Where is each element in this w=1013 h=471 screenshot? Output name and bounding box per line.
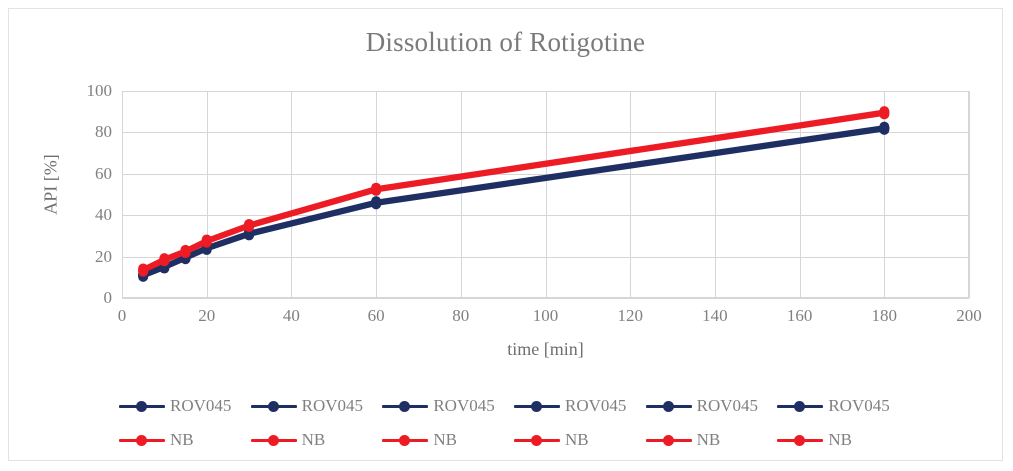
data-point-marker	[244, 221, 254, 231]
series-line	[143, 127, 884, 274]
data-point-marker	[181, 247, 191, 257]
y-axis-tick-label: 20	[52, 247, 112, 267]
plot-area	[122, 91, 969, 298]
legend-item-label: NB	[170, 430, 194, 450]
x-axis-tick-label: 180	[854, 306, 914, 326]
legend-item[interactable]: ROV045	[251, 391, 383, 421]
legend-item-label: ROV045	[433, 396, 494, 416]
data-point-marker	[879, 124, 889, 134]
legend-item[interactable]: NB	[514, 425, 646, 455]
data-point-marker	[202, 236, 212, 246]
legend-marker-icon	[382, 433, 428, 447]
legend-item-label: NB	[565, 430, 589, 450]
series-line	[143, 114, 884, 271]
series-line	[143, 113, 884, 270]
series-line	[143, 128, 884, 275]
legend-marker-icon	[251, 399, 297, 413]
x-axis-tick-label: 0	[92, 306, 152, 326]
legend-item-label: NB	[433, 430, 457, 450]
x-axis-tick-label: 20	[177, 306, 237, 326]
series-line	[143, 114, 884, 271]
legend-marker-icon	[646, 433, 692, 447]
legend-item[interactable]: NB	[382, 425, 514, 455]
data-point-marker	[138, 265, 148, 275]
chart-container: Dissolution of Rotigotine API [%] 020406…	[8, 8, 1003, 461]
legend-item[interactable]: ROV045	[514, 391, 646, 421]
legend-item[interactable]: NB	[646, 425, 778, 455]
legend-marker-icon	[251, 433, 297, 447]
legend-dot-icon	[531, 401, 542, 412]
legend-dot-icon	[531, 435, 542, 446]
legend-dot-icon	[663, 435, 674, 446]
legend-item[interactable]: ROV045	[777, 391, 909, 421]
data-point-marker	[879, 108, 889, 118]
legend-item-label: NB	[828, 430, 852, 450]
legend-dot-icon	[399, 401, 410, 412]
data-point-marker	[371, 185, 381, 195]
x-axis-tick-label: 100	[516, 306, 576, 326]
legend-item-label: ROV045	[302, 396, 363, 416]
legend-dot-icon	[663, 401, 674, 412]
series-line	[143, 130, 884, 277]
legend-marker-icon	[119, 433, 165, 447]
series-line	[143, 129, 884, 276]
x-axis-tick-label: 200	[939, 306, 999, 326]
y-axis-tick-labels: 020406080100	[49, 91, 112, 298]
legend-item-label: ROV045	[828, 396, 889, 416]
legend-marker-icon	[777, 399, 823, 413]
y-axis-tick-label: 100	[52, 81, 112, 101]
legend-item[interactable]: NB	[251, 425, 383, 455]
y-axis-tick-label: 60	[52, 164, 112, 184]
legend-dot-icon	[399, 435, 410, 446]
legend-marker-icon	[777, 433, 823, 447]
series-line	[143, 127, 884, 274]
series-line	[143, 111, 884, 268]
data-point-marker	[159, 255, 169, 265]
legend-marker-icon	[514, 433, 560, 447]
legend-marker-icon	[646, 399, 692, 413]
legend-dot-icon	[794, 401, 805, 412]
legend-item[interactable]: NB	[119, 425, 251, 455]
y-axis-tick-label: 80	[52, 122, 112, 142]
legend-dot-icon	[268, 435, 279, 446]
legend-item[interactable]: NB	[777, 425, 909, 455]
legend-dot-icon	[136, 435, 147, 446]
chart-title: Dissolution of Rotigotine	[9, 27, 1002, 58]
legend-dot-icon	[268, 401, 279, 412]
legend-marker-icon	[382, 399, 428, 413]
series-nb	[138, 109, 889, 276]
legend-dot-icon	[794, 435, 805, 446]
legend-item-label: ROV045	[565, 396, 626, 416]
legend-marker-icon	[119, 399, 165, 413]
legend-dot-icon	[136, 401, 147, 412]
x-axis-tick-labels: 020406080100120140160180200	[122, 306, 969, 330]
x-axis-tick-label: 140	[685, 306, 745, 326]
series-nb	[138, 109, 889, 276]
x-axis-title: time [min]	[122, 339, 969, 360]
legend-item-label: NB	[302, 430, 326, 450]
series-layer	[122, 91, 969, 298]
series-line	[143, 112, 884, 269]
gridline-horizontal	[122, 298, 969, 299]
y-axis-tick-label: 40	[52, 205, 112, 225]
x-axis-tick-label: 80	[431, 306, 491, 326]
x-axis-tick-label: 160	[770, 306, 830, 326]
data-point-marker	[371, 198, 381, 208]
legend-item[interactable]: ROV045	[646, 391, 778, 421]
x-axis-tick-label: 40	[261, 306, 321, 326]
series-nb	[138, 108, 889, 275]
legend-item-label: NB	[697, 430, 721, 450]
series-rov045	[138, 124, 889, 281]
legend-item-label: ROV045	[170, 396, 231, 416]
legend-item[interactable]: ROV045	[119, 391, 251, 421]
legend-item-label: ROV045	[697, 396, 758, 416]
chart-legend: ROV045ROV045ROV045ROV045ROV045ROV045NBNB…	[119, 391, 909, 455]
y-axis-tick-label: 0	[52, 288, 112, 308]
legend-item[interactable]: ROV045	[382, 391, 514, 421]
gridline-vertical	[969, 91, 970, 298]
legend-marker-icon	[514, 399, 560, 413]
x-axis-tick-label: 120	[600, 306, 660, 326]
series-line	[143, 113, 884, 270]
x-axis-tick-label: 60	[346, 306, 406, 326]
series-nb	[138, 108, 889, 275]
series-line	[143, 129, 884, 276]
series-rov045	[138, 125, 889, 282]
